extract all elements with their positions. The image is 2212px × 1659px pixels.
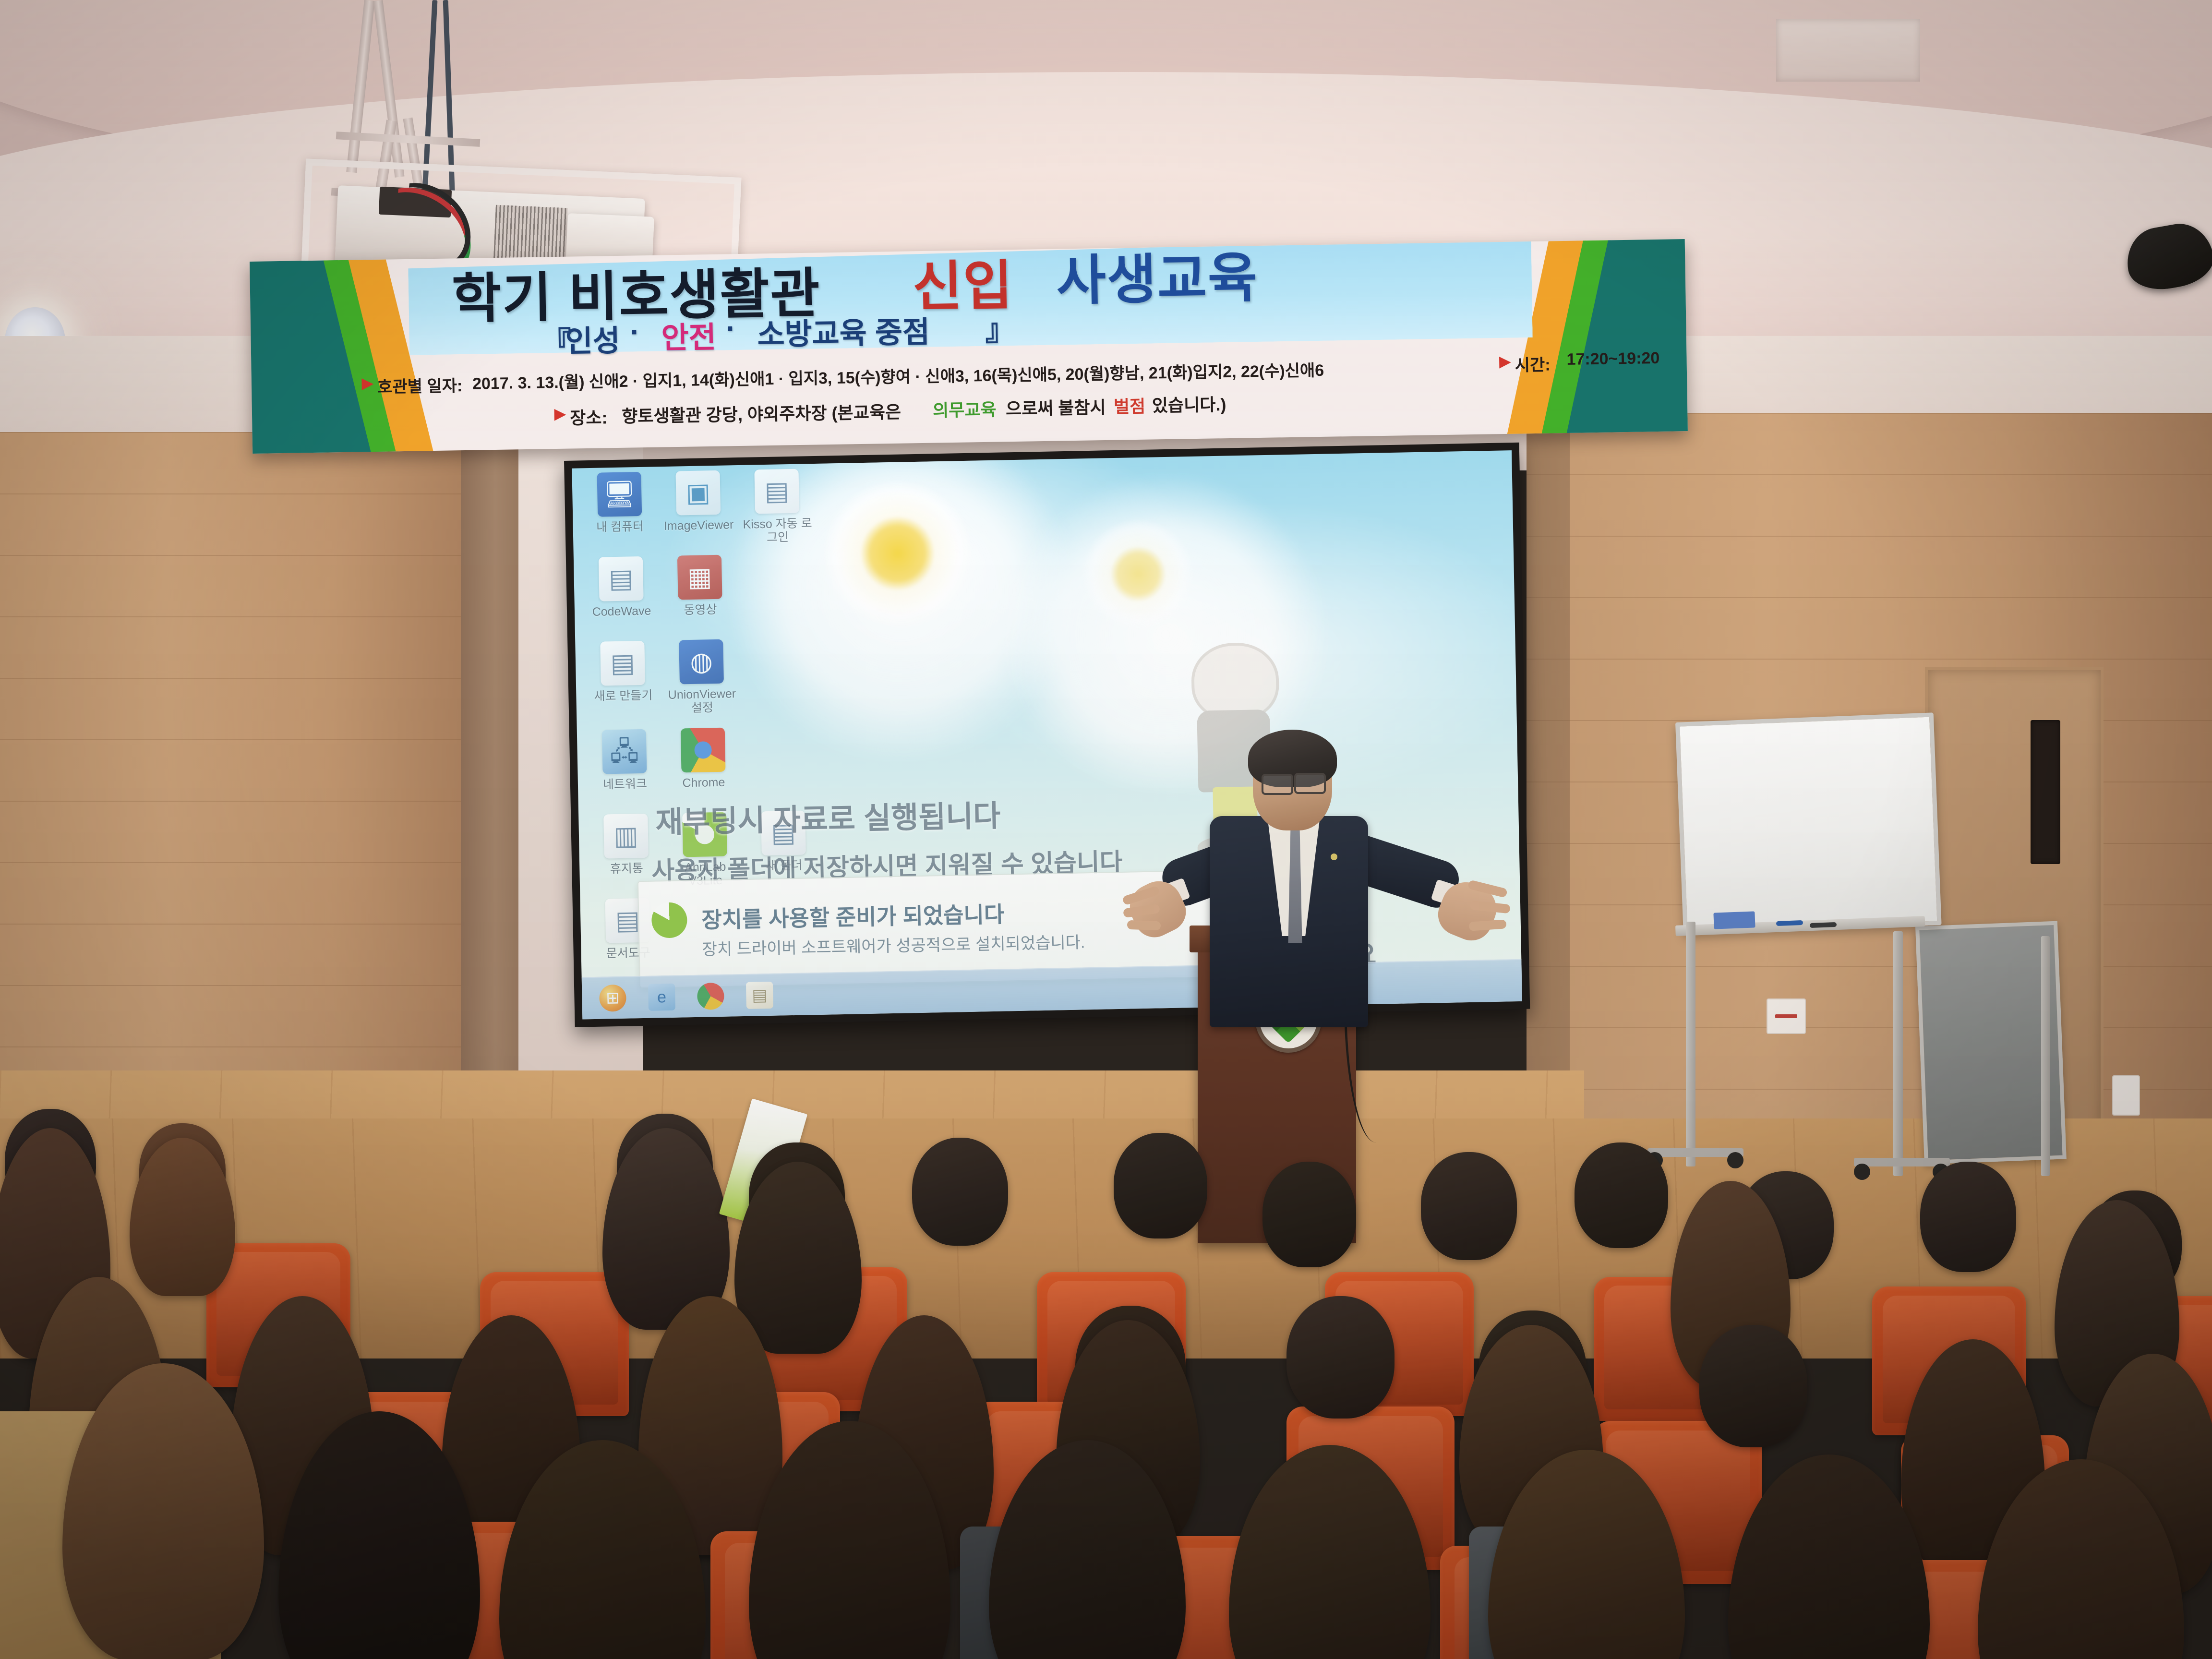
banner-subtitle-part-2: 안전	[661, 313, 716, 357]
kisso-login-icon: ▤	[754, 469, 799, 514]
banner-place-highlight-2: 벌점	[1114, 393, 1146, 418]
network-icon: 🖧	[602, 729, 647, 774]
desktop-icon-label: 동영상	[662, 602, 739, 617]
wall-switch-plate[interactable]	[1767, 998, 1806, 1034]
desktop-icon[interactable]: ◍ UnionViewer 설정	[662, 639, 741, 715]
speaker-glasses-icon	[1294, 773, 1326, 794]
balloon-body: 장치 드라이버 소프트웨어가 성공적으로 설치되었습니다.	[702, 929, 1085, 960]
whiteboard-leg	[1893, 931, 1903, 1176]
balloon-app-icon	[651, 902, 687, 938]
desktop-icon-label: ImageViewer	[660, 518, 737, 533]
desktop-icon[interactable]: Chrome	[664, 727, 742, 790]
chrome-taskbar-icon[interactable]	[697, 983, 724, 1010]
desktop-icon[interactable]: ▣ ImageViewer	[659, 470, 737, 533]
audience-head	[1286, 1296, 1395, 1419]
banner-title-part-3: 사생교육	[1056, 239, 1259, 315]
banner-place-marker: ▶	[554, 406, 566, 422]
switch-indicator-icon	[1775, 1014, 1798, 1018]
whiteboard-marker-icon[interactable]	[1776, 920, 1803, 926]
whiteboard-marker-icon[interactable]	[1810, 922, 1837, 928]
audience-head	[1421, 1152, 1517, 1260]
desktop-icon-label: 네트워크	[587, 777, 664, 792]
audience-head	[1262, 1162, 1356, 1267]
desktop-icon[interactable]: 🖧 네트워크	[586, 729, 663, 792]
audience-head	[1920, 1162, 2016, 1272]
banner-place-label: 장소:	[570, 404, 608, 429]
wall-wood-panel-left	[0, 432, 475, 1133]
my-computer-icon: 🖥	[597, 472, 642, 517]
banner-place-highlight-1: 의무교육	[933, 396, 997, 422]
whiteboard-eraser-icon[interactable]	[1713, 911, 1755, 929]
hvac-vent-icon	[1776, 19, 1920, 82]
banner-time-value: 17:20~19:20	[1566, 349, 1659, 369]
speaker-lapel-pin-icon	[1331, 854, 1337, 860]
banner-subtitle-part-1: 인성	[565, 316, 620, 361]
internet-explorer-icon[interactable]: e	[648, 984, 675, 1011]
chrome-icon	[681, 728, 726, 773]
audience-head	[912, 1138, 1008, 1246]
start-button-icon[interactable]: ⊞	[599, 985, 626, 1012]
desktop-icon[interactable]: ▤ CodeWave	[582, 556, 660, 619]
banner-place-value-post: 있습니다.)	[1152, 391, 1226, 417]
banner-time-label: 시간:	[1515, 351, 1551, 375]
desktop-icon-label: Kisso 자동 로그인	[739, 517, 816, 545]
desktop-icon[interactable]: 🖥 내 컴퓨터	[580, 471, 658, 534]
audience-head	[1114, 1133, 1207, 1238]
document-taskbar-icon[interactable]: ▤	[746, 982, 773, 1009]
wall-shadow-strip	[1527, 413, 1570, 1162]
desktop-icon-label: UnionViewer 설정	[663, 687, 741, 715]
wall-outlet-plate[interactable]	[2112, 1075, 2140, 1116]
desktop-icon[interactable]: ▤ Kisso 자동 로그인	[738, 469, 816, 545]
whiteboard-caster-icon	[1854, 1164, 1870, 1180]
banner-date-marker: ▶	[362, 375, 373, 392]
banner-place-value-mid: 으로써 불참시	[1006, 394, 1106, 420]
banner-place-value-pre: 향토생활관 강당, 야외주차장 (본교육은	[622, 398, 902, 428]
banner-date-label: 호관별 일자:	[377, 373, 463, 397]
door-window-icon	[2031, 720, 2060, 864]
audience-head	[1575, 1142, 1668, 1248]
banner-subtitle-sep-1: ·	[630, 315, 640, 349]
new-file-icon: ▤	[600, 641, 645, 686]
banner-subtitle-sep-2: ·	[726, 312, 736, 346]
codewave-icon: ▤	[599, 556, 644, 601]
desktop-icon-label: 내 컴퓨터	[581, 519, 659, 534]
banner-time-marker: ▶	[1499, 353, 1511, 370]
image-viewer-icon: ▣	[675, 470, 721, 516]
projection-screen[interactable]: 🖥 내 컴퓨터 ▣ ImageViewer ▤ Kisso 자동 로그인 ▤ C…	[572, 450, 1522, 1019]
whiteboard-leg	[1686, 922, 1695, 1166]
mobile-whiteboard[interactable]	[1675, 712, 1942, 935]
projection-screen-frame: 🖥 내 컴퓨터 ▣ ImageViewer ▤ Kisso 자동 로그인 ▤ C…	[564, 443, 1530, 1027]
speaker-glasses-icon	[1262, 774, 1293, 795]
auditorium-photo: 학기 비호생활관 신입 사생교육 『 인성 · 안전 · 소방교육 중점 』 ▶…	[0, 0, 2212, 1659]
banner-subtitle-part-3: 소방교육 중점	[757, 308, 930, 354]
gray-board-frame-leg	[2041, 936, 2050, 1176]
slide-text-line-1: 재부팅시 자료로 실행됩니다	[655, 792, 1001, 842]
event-banner: 학기 비호생활관 신입 사생교육 『 인성 · 안전 · 소방교육 중점 』 ▶…	[250, 239, 1688, 454]
mascot-head	[1191, 642, 1280, 721]
recycle-bin-icon: ▥	[603, 814, 649, 859]
desktop-icon-label: Chrome	[665, 775, 743, 790]
desktop-icon[interactable]: ▦ 동영상	[661, 554, 739, 617]
union-viewer-icon: ◍	[679, 639, 724, 685]
desktop-icon-label: CodeWave	[583, 604, 661, 619]
desktop-icon[interactable]: ▤ 새로 만들기	[584, 640, 661, 703]
speaker-finger	[1127, 920, 1161, 930]
audience-head	[1699, 1325, 1807, 1447]
banner-subtitle-close: 』	[985, 305, 1015, 349]
video-folder-icon: ▦	[677, 555, 722, 600]
balloon-title: 장치를 사용할 준비가 되었습니다	[701, 897, 1005, 935]
whiteboard-caster-icon	[1727, 1152, 1743, 1168]
desktop-icon-label: 새로 만들기	[585, 688, 662, 703]
